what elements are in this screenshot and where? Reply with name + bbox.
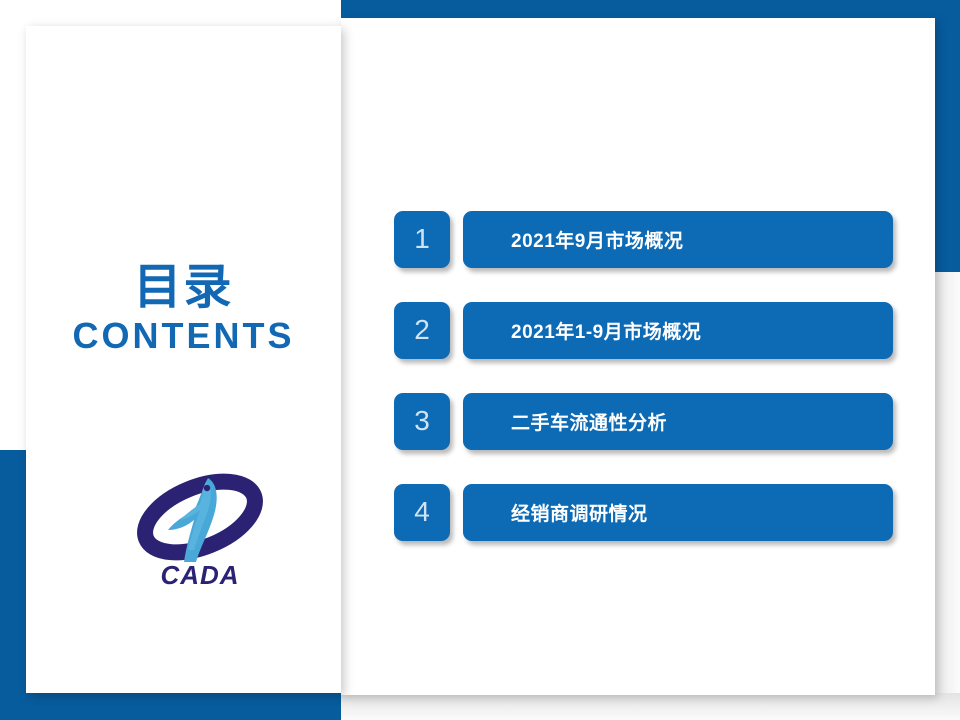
toc-bar-4[interactable]: 经销商调研情况 — [463, 484, 893, 541]
toc-label-4: 经销商调研情况 — [511, 499, 648, 526]
toc-item-4[interactable]: 4 经销商调研情况 — [394, 484, 894, 541]
toc-label-2: 2021年1-9月市场概况 — [511, 317, 701, 344]
decor-bottom-right-wash — [341, 693, 960, 720]
cada-wordmark: CADA — [160, 560, 239, 590]
toc-number-badge-2[interactable]: 2 — [394, 302, 450, 359]
slide-contents: 目录 CONTENTS CADA 1 2021年9月市场概况 2 — [0, 0, 960, 720]
page-title-en: CONTENTS — [26, 318, 341, 354]
toc-item-2[interactable]: 2 2021年1-9月市场概况 — [394, 302, 894, 359]
decor-right-blue-bar — [935, 0, 960, 272]
decor-left-blue-bar — [0, 450, 26, 720]
toc-number-badge-4[interactable]: 4 — [394, 484, 450, 541]
toc-label-1: 2021年9月市场概况 — [511, 226, 683, 253]
page-title-cn: 目录 — [26, 264, 341, 312]
cada-logo: CADA — [130, 462, 270, 592]
decor-bottom-blue-bar — [0, 693, 341, 720]
toc-number-badge-1[interactable]: 1 — [394, 211, 450, 268]
toc-bar-1[interactable]: 2021年9月市场概况 — [463, 211, 893, 268]
decor-right-wash — [935, 272, 960, 693]
toc-item-3[interactable]: 3 二手车流通性分析 — [394, 393, 894, 450]
toc-list: 1 2021年9月市场概况 2 2021年1-9月市场概况 3 二手车流通性分析… — [394, 211, 894, 541]
toc-number-badge-3[interactable]: 3 — [394, 393, 450, 450]
toc-item-1[interactable]: 1 2021年9月市场概况 — [394, 211, 894, 268]
left-white-card — [26, 26, 341, 693]
decor-top-blue-bar — [341, 0, 960, 18]
page-title: 目录 CONTENTS — [26, 264, 341, 354]
toc-bar-3[interactable]: 二手车流通性分析 — [463, 393, 893, 450]
toc-label-3: 二手车流通性分析 — [511, 408, 667, 435]
toc-bar-2[interactable]: 2021年1-9月市场概况 — [463, 302, 893, 359]
